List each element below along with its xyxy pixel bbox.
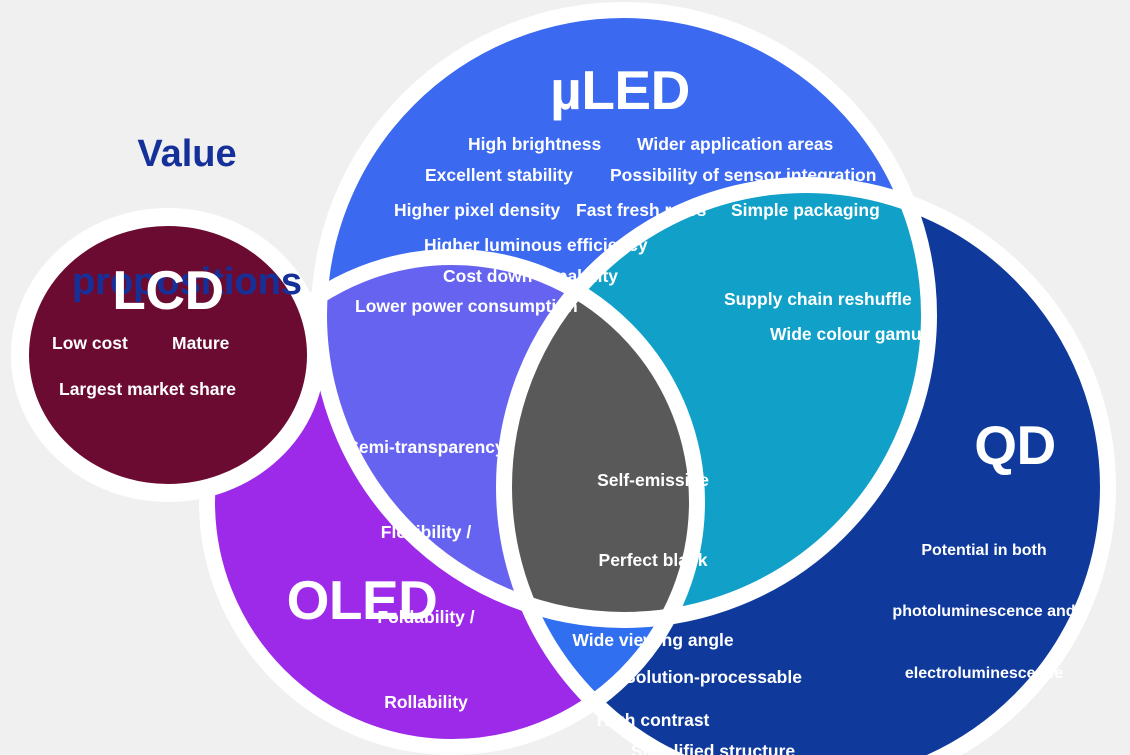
venn-diagram-canvas: Value propositions µLED High brightness … xyxy=(0,0,1130,755)
region-lcd[interactable] xyxy=(20,217,316,493)
venn-svg xyxy=(0,0,1130,755)
